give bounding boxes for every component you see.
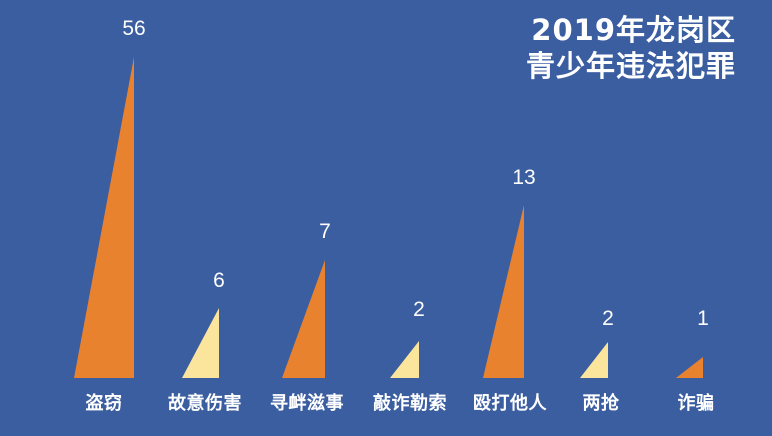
bar-triangle[interactable] (390, 341, 419, 378)
category-label: 敲诈勒索 (350, 394, 470, 414)
bar-triangle[interactable] (676, 357, 703, 378)
category-label: 殴打他人 (450, 394, 570, 414)
category-label: 故意伤害 (145, 394, 265, 414)
bar-triangle[interactable] (182, 308, 219, 378)
category-label: 两抢 (541, 394, 661, 414)
bar-triangle[interactable] (74, 57, 134, 378)
plot-area: 56盗窃6故意伤害7寻衅滋事2敲诈勒索13殴打他人2两抢1诈骗 (0, 0, 772, 436)
bar-value-label: 13 (484, 167, 564, 188)
category-label: 寻衅滋事 (247, 394, 367, 414)
bar-value-label: 6 (179, 270, 259, 291)
bar-value-label: 7 (285, 221, 365, 242)
bar-group: 56盗窃 (0, 0, 772, 436)
chart-canvas: 2019年龙岗区 青少年违法犯罪 56盗窃6故意伤害7寻衅滋事2敲诈勒索13殴打… (0, 0, 772, 436)
bar-value-label: 56 (94, 18, 174, 39)
bar-value-label: 2 (568, 308, 648, 329)
bar-value-label: 2 (379, 299, 459, 320)
category-label: 诈骗 (636, 394, 756, 414)
bar-triangle[interactable] (580, 342, 608, 378)
category-label: 盗窃 (44, 394, 164, 414)
bar-triangle[interactable] (282, 260, 325, 378)
bar-triangle[interactable] (483, 205, 524, 378)
bar-value-label: 1 (663, 308, 743, 329)
